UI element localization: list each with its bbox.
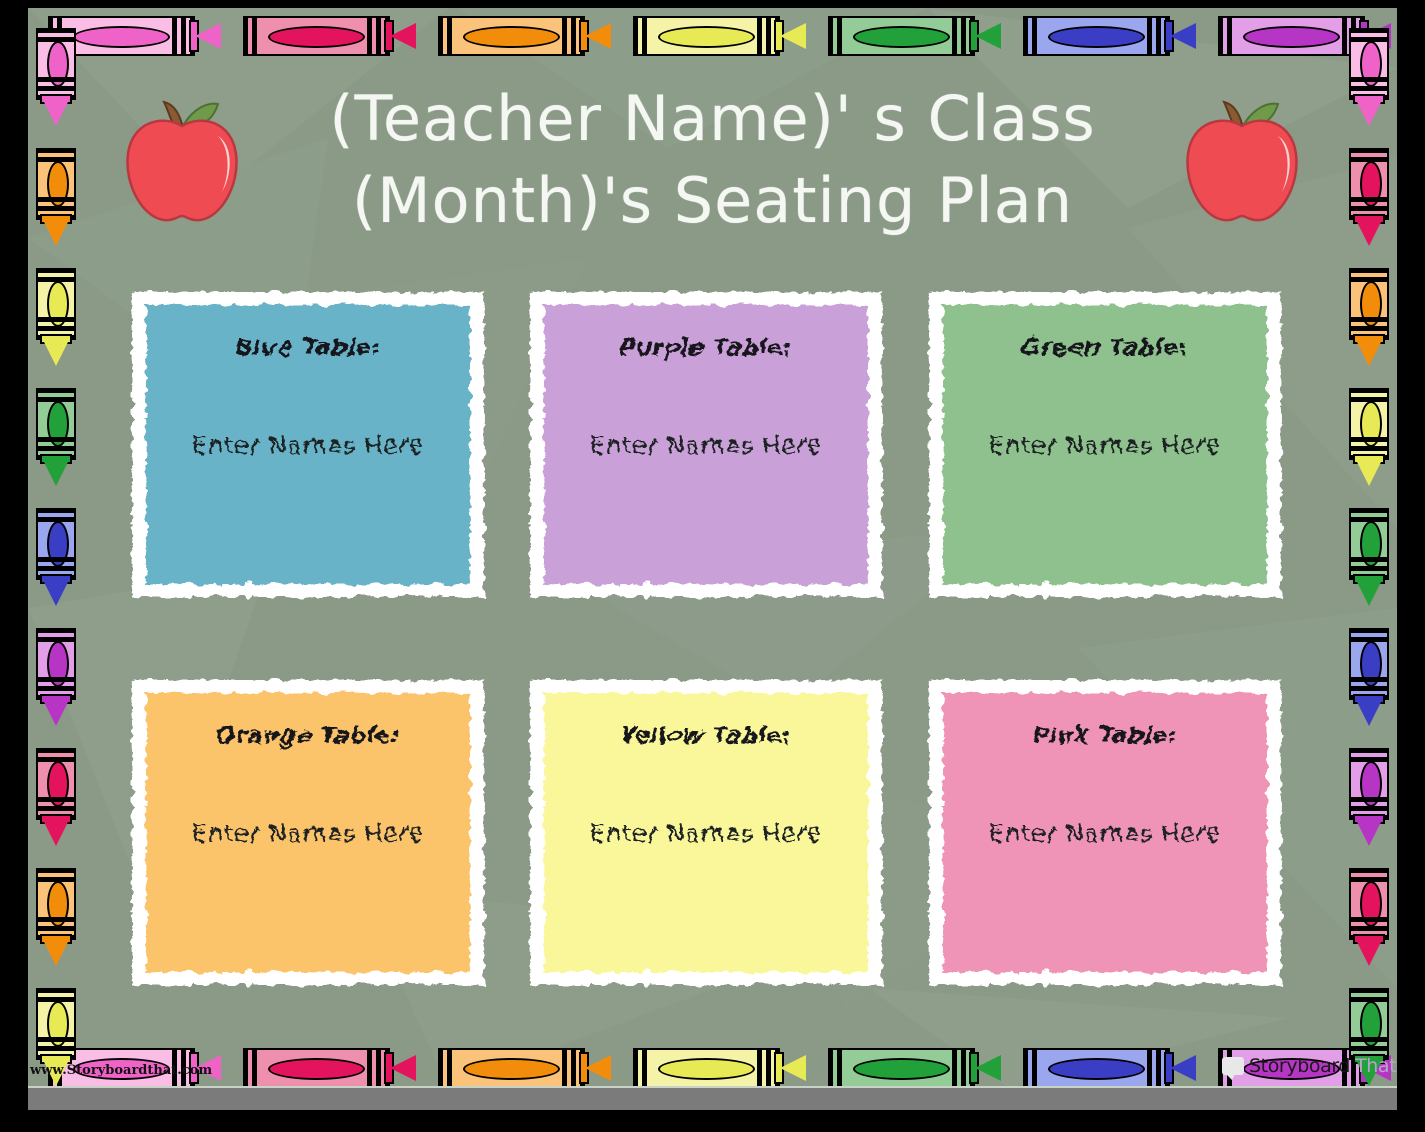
table-card-fill: Pink Table: Enter Names Here — [943, 693, 1267, 972]
table-names-field[interactable]: Enter Names Here — [146, 431, 470, 460]
crayon-orange — [1349, 248, 1389, 366]
crayon-blue — [36, 488, 76, 606]
table-heading: Green Table: — [943, 335, 1267, 361]
table-heading: Blue Table: — [146, 335, 470, 361]
crayon-yellow — [36, 248, 76, 366]
table-card[interactable]: Purple Table: Enter Names Here — [530, 292, 882, 597]
crayon-pink — [1349, 848, 1389, 966]
logo-word-storyboard: Storyboard — [1249, 1055, 1350, 1077]
crayon-green — [1349, 488, 1389, 606]
crayon-pink — [223, 16, 416, 56]
crayon-pink-light — [1349, 8, 1389, 126]
crayon-green — [808, 1048, 1001, 1088]
crayon-yellow — [613, 16, 806, 56]
crayon-pink — [223, 1048, 416, 1088]
crayon-pink-light — [36, 8, 76, 126]
crayon-border-left — [28, 8, 84, 1088]
table-heading: Yellow Table: — [544, 723, 868, 749]
table-card-fill: Green Table: Enter Names Here — [943, 305, 1267, 584]
crayon-border-right — [1341, 8, 1397, 1088]
table-card[interactable]: Blue Table: Enter Names Here — [132, 292, 484, 597]
crayon-orange — [36, 848, 76, 966]
crayon-border-bottom — [28, 1040, 1397, 1088]
crayon-blue — [1003, 16, 1196, 56]
crayon-green — [808, 16, 1001, 56]
apple-icon — [118, 88, 246, 228]
table-names-field[interactable]: Enter Names Here — [146, 819, 470, 848]
crayon-orange — [36, 128, 76, 246]
table-card-fill: Blue Table: Enter Names Here — [146, 305, 470, 584]
crayon-yellow — [613, 1048, 806, 1088]
website-watermark: www.Storyboardthat.com — [30, 1063, 212, 1078]
crayon-border-top — [28, 8, 1397, 64]
table-heading: Purple Table: — [544, 335, 868, 361]
crayon-yellow — [1349, 368, 1389, 486]
crayon-pink — [36, 728, 76, 846]
table-names-field[interactable]: Enter Names Here — [943, 819, 1267, 848]
storyboard-that-logo[interactable]: Storyboard That — [1222, 1052, 1396, 1080]
table-card-fill: Purple Table: Enter Names Here — [544, 305, 868, 584]
table-card[interactable]: Orange Table: Enter Names Here — [132, 680, 484, 985]
table-card[interactable]: Green Table: Enter Names Here — [929, 292, 1281, 597]
crayon-purple — [36, 608, 76, 726]
table-heading: Pink Table: — [943, 723, 1267, 749]
table-names-field[interactable]: Enter Names Here — [544, 431, 868, 460]
crayon-purple — [1349, 728, 1389, 846]
table-names-field[interactable]: Enter Names Here — [943, 431, 1267, 460]
crayon-orange — [418, 16, 611, 56]
logo-word-that: That — [1355, 1055, 1396, 1077]
crayon-pink — [1349, 128, 1389, 246]
table-card-fill: Orange Table: Enter Names Here — [146, 693, 470, 972]
crayon-blue — [1003, 1048, 1196, 1088]
crayon-orange — [418, 1048, 611, 1088]
crayon-blue — [1349, 608, 1389, 726]
seating-table-grid: Blue Table: Enter Names Here Purple Tabl… — [132, 292, 1292, 992]
seating-plan-poster: (Teacher Name)' s Class (Month)'s Seatin… — [0, 0, 1425, 1132]
speech-bubble-icon — [1222, 1057, 1244, 1075]
apple-icon — [1178, 88, 1306, 228]
table-card[interactable]: Yellow Table: Enter Names Here — [530, 680, 882, 985]
crayon-green — [36, 368, 76, 486]
table-names-field[interactable]: Enter Names Here — [544, 819, 868, 848]
table-card[interactable]: Pink Table: Enter Names Here — [929, 680, 1281, 985]
table-card-fill: Yellow Table: Enter Names Here — [544, 693, 868, 972]
chalk-ledge — [28, 1086, 1397, 1110]
table-heading: Orange Table: — [146, 723, 470, 749]
